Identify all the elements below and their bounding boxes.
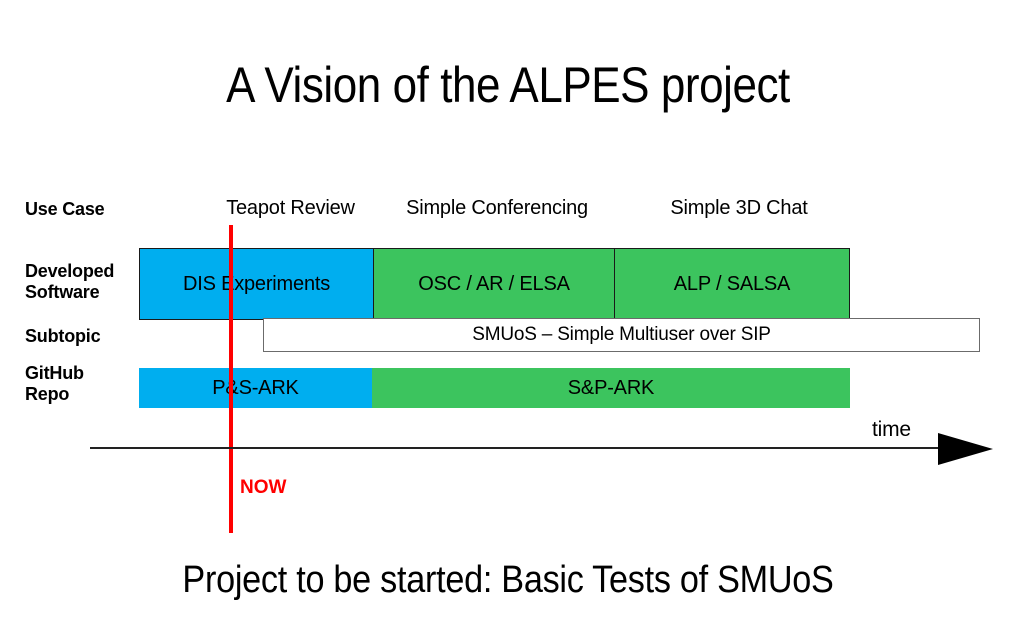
row-label-use-case: Use Case — [25, 199, 104, 220]
subtopic-box[interactable]: SMUoS – Simple Multiuser over SIP — [263, 318, 980, 352]
now-marker-label: NOW — [240, 477, 286, 499]
arrow-right-icon — [938, 433, 993, 465]
row-label-developed-software: Developed Software — [25, 261, 114, 302]
slide-canvas: A Vision of the ALPES project Use Case D… — [0, 0, 1016, 630]
slide-footer-text: Project to be started: Basic Tests of SM… — [51, 560, 965, 602]
page-title: A Vision of the ALPES project — [61, 58, 955, 113]
segment-label: P&S-ARK — [212, 377, 298, 400]
segment-label: DIS Experiments — [183, 273, 330, 296]
now-marker-line — [229, 225, 233, 533]
developed-software-segment-alp[interactable]: ALP / SALSA — [614, 249, 849, 319]
developed-software-segment-osc[interactable]: OSC / AR / ELSA — [373, 249, 614, 319]
subtopic-label: SMUoS – Simple Multiuser over SIP — [472, 324, 771, 346]
github-repo-segment-sp-ark[interactable]: S&P-ARK — [372, 368, 850, 408]
segment-label: ALP / SALSA — [674, 273, 790, 296]
time-axis-arrow — [88, 420, 998, 465]
developed-software-segment-dis[interactable]: DIS Experiments — [140, 249, 373, 319]
segment-label: OSC / AR / ELSA — [418, 273, 570, 296]
use-case-label-simple-3d-chat: Simple 3D Chat — [640, 197, 838, 220]
use-case-label-simple-conferencing: Simple Conferencing — [382, 197, 612, 220]
row-label-github-repo: GitHub Repo — [25, 363, 84, 404]
developed-software-bar: DIS Experiments OSC / AR / ELSA ALP / SA… — [139, 248, 850, 320]
use-case-label-teapot-review: Teapot Review — [212, 197, 369, 220]
github-repo-bar: P&S-ARK S&P-ARK — [139, 368, 850, 408]
github-repo-segment-ps-ark[interactable]: P&S-ARK — [139, 368, 372, 408]
row-label-subtopic: Subtopic — [25, 326, 100, 347]
segment-label: S&P-ARK — [568, 377, 654, 400]
